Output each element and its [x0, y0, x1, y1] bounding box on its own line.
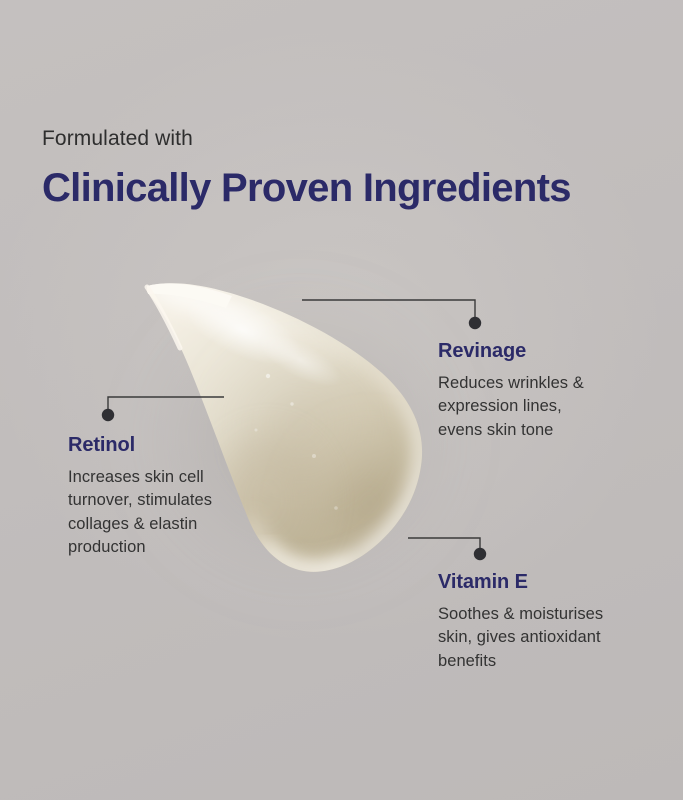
eyebrow-text: Formulated with — [42, 126, 642, 152]
callout-body-vitamin-e: Soothes & moisturises skin, gives antiox… — [438, 603, 648, 673]
leader-dot-retinol — [102, 409, 114, 421]
callout-body-revinage: Reduces wrinkles & expression lines, eve… — [438, 372, 643, 442]
callout-title-vitamin-e: Vitamin E — [438, 570, 648, 594]
callout-revinage: Revinage Reduces wrinkles & expression l… — [438, 339, 643, 442]
leader-line-vitamin-e — [408, 538, 480, 548]
leader-line-revinage — [302, 300, 475, 317]
callout-title-retinol: Retinol — [68, 433, 278, 457]
leader-line-retinol — [108, 397, 224, 409]
callout-title-revinage: Revinage — [438, 339, 643, 363]
callout-body-retinol: Increases skin cell turnover, stimulates… — [68, 466, 278, 560]
callout-vitamin-e: Vitamin E Soothes & moisturises skin, gi… — [438, 570, 648, 673]
page-header: Formulated with Clinically Proven Ingred… — [42, 126, 642, 211]
page-title: Clinically Proven Ingredients — [42, 166, 642, 211]
leader-dot-revinage — [469, 317, 481, 329]
callout-retinol: Retinol Increases skin cell turnover, st… — [68, 433, 278, 560]
leader-dot-vitamin-e — [474, 548, 486, 560]
